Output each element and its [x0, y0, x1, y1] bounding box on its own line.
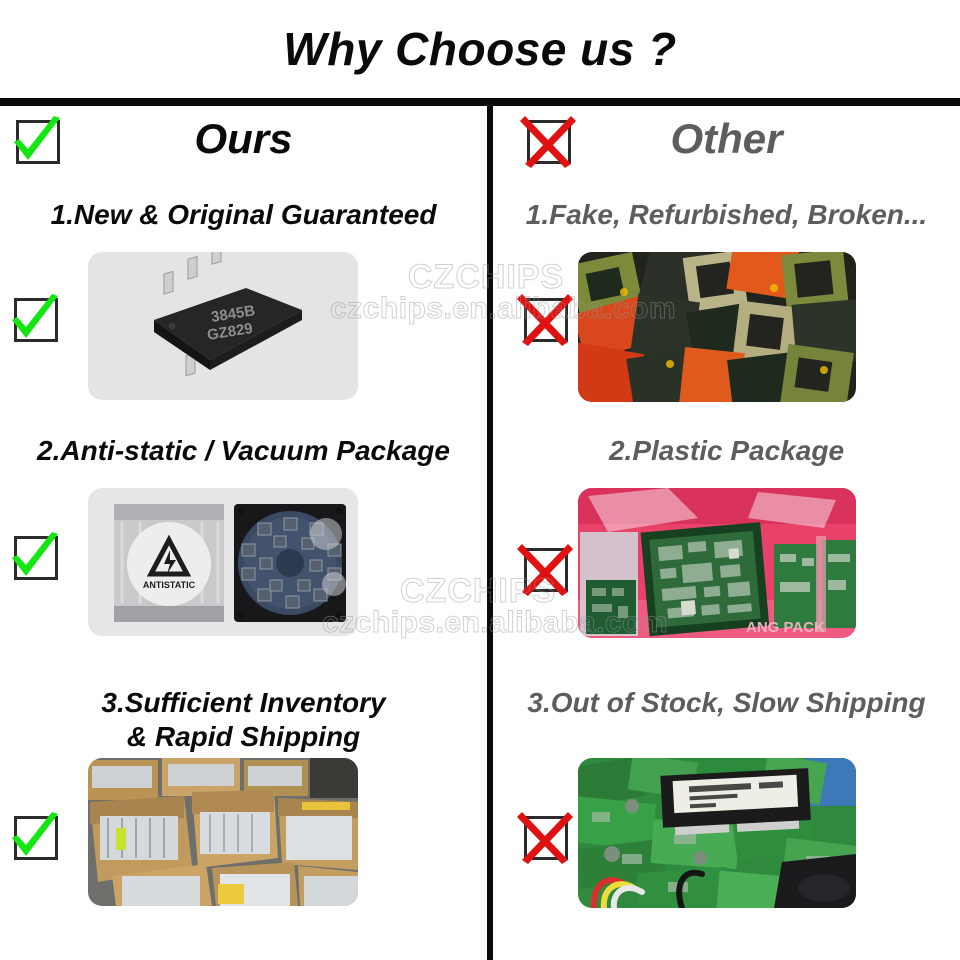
check-mark-icon [8, 112, 66, 170]
check-mark-icon [6, 808, 64, 866]
why-choose-us-comparison: Why Choose us ? Ours Other [0, 0, 960, 960]
feature-label: 2.Anti-static / Vacuum Package [0, 434, 487, 468]
feature-row-2-ours: 2.Anti-static / Vacuum Package [0, 434, 487, 468]
column-header-ours: Ours [0, 108, 487, 174]
feature-row-2-other: 2.Plastic Package [493, 434, 960, 468]
check-mark-icon [6, 290, 64, 348]
page-title: Why Choose us ? [0, 22, 960, 76]
header-divider [0, 98, 960, 106]
cross-mark-icon [519, 112, 577, 170]
check-mark-icon [6, 528, 64, 586]
column-divider [487, 104, 493, 960]
cross-glyph [519, 112, 577, 170]
check-glyph [6, 528, 64, 586]
cross-glyph [516, 290, 574, 348]
check-glyph [8, 112, 66, 170]
antistatic-bag-and-reel-photo: ANTISTATIC [88, 488, 358, 636]
feature-row-1-other: 1.Fake, Refurbished, Broken... [493, 198, 960, 232]
column-header-ours-label: Ours [0, 108, 487, 170]
feature-label: 1.New & Original Guaranteed [0, 198, 487, 232]
scrap-pcb-heap-photo [578, 758, 856, 908]
feature-row-3-other: 3.Out of Stock, Slow Shipping [493, 686, 960, 720]
check-glyph [6, 290, 64, 348]
antistatic-warning-label: ANTISTATIC [143, 580, 196, 590]
feature-label: 3.Sufficient Inventory & Rapid Shipping [0, 686, 487, 754]
cross-glyph [516, 808, 574, 866]
feature-row-1-ours: 1.New & Original Guaranteed [0, 198, 487, 232]
feature-label: 3.Out of Stock, Slow Shipping [493, 686, 960, 720]
soic8-chip-photo: 3845B GZ829 [88, 252, 358, 400]
feature-label: 1.Fake, Refurbished, Broken... [493, 198, 960, 232]
cross-mark-icon [516, 290, 574, 348]
plastic-bag-pcb-photo: ANG PACK [578, 488, 856, 638]
shipping-boxes-photo [88, 758, 358, 906]
cross-glyph [516, 540, 574, 598]
cross-mark-icon [516, 808, 574, 866]
scrap-chips-pile-photo [578, 252, 856, 402]
photo-watermark: ANG PACK [746, 619, 825, 636]
feature-label: 2.Plastic Package [493, 434, 960, 468]
feature-row-3-ours: 3.Sufficient Inventory & Rapid Shipping [0, 686, 487, 754]
check-glyph [6, 808, 64, 866]
cross-mark-icon [516, 540, 574, 598]
